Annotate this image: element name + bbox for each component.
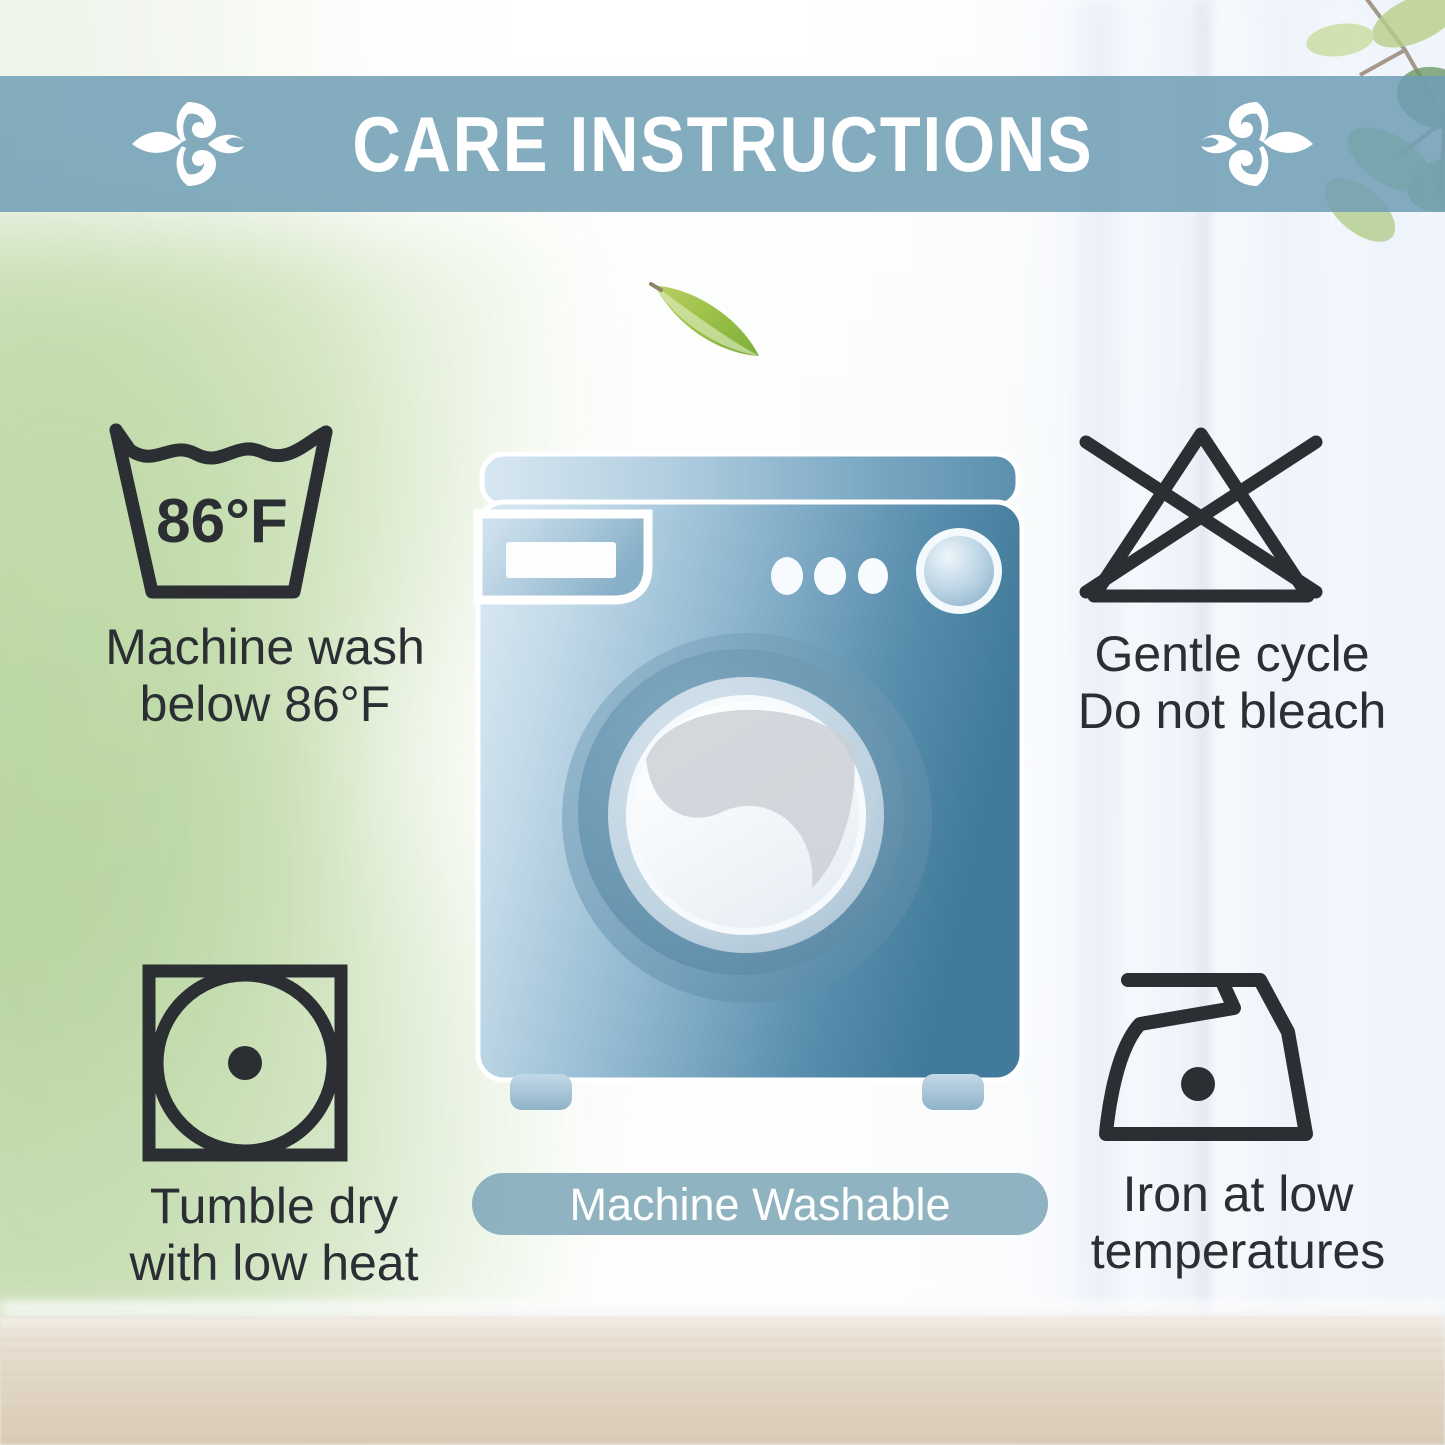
detergent-drawer[interactable] bbox=[478, 514, 648, 600]
caption-line-1: Tumble dry bbox=[48, 1178, 500, 1235]
do-not-bleach-triangle-icon bbox=[1072, 420, 1330, 610]
care-symbol-tumble-dry: Tumble dry with low heat bbox=[20, 962, 500, 1292]
indicator-light-2 bbox=[814, 557, 846, 595]
indicator-lights bbox=[771, 557, 888, 595]
indicator-light-3 bbox=[858, 558, 888, 594]
machine-door[interactable] bbox=[562, 633, 932, 1003]
machine-lid bbox=[482, 454, 1018, 506]
machine-foot-left bbox=[510, 1074, 572, 1110]
washing-machine-illustration bbox=[470, 440, 1030, 1130]
indicator-light-1 bbox=[771, 557, 803, 595]
fleur-de-lis-ornament-right bbox=[1199, 96, 1319, 192]
care-instructions-infographic: CARE INSTRUCTIONS 86°F bbox=[0, 0, 1445, 1445]
caption-line-2: Do not bleach bbox=[1024, 683, 1440, 740]
caption-line-2: temperatures bbox=[1036, 1223, 1440, 1280]
tumble-dry-low-icon bbox=[140, 962, 350, 1164]
care-symbol-tumble-dry-caption: Tumble dry with low heat bbox=[20, 1178, 500, 1292]
care-symbol-bleach-caption: Gentle cycle Do not bleach bbox=[1000, 626, 1440, 740]
caption-line-1: Gentle cycle bbox=[1024, 626, 1440, 683]
fleur-de-lis-ornament-left bbox=[126, 96, 246, 192]
header-banner: CARE INSTRUCTIONS bbox=[0, 76, 1445, 212]
caption-line-1: Iron at low bbox=[1036, 1166, 1440, 1223]
control-dial-knob[interactable] bbox=[916, 528, 1002, 614]
caption-line-1: Machine wash bbox=[30, 619, 500, 676]
machine-washable-label: Machine Washable bbox=[569, 1182, 950, 1227]
caption-line-2: below 86°F bbox=[30, 676, 500, 733]
care-symbol-wash-caption: Machine wash below 86°F bbox=[20, 619, 500, 733]
care-symbol-iron-caption: Iron at low temperatures bbox=[1000, 1166, 1440, 1280]
machine-foot-right bbox=[922, 1074, 984, 1110]
wash-tub-icon: 86°F bbox=[104, 420, 354, 605]
care-symbol-wash: 86°F Machine wash below 86°F bbox=[20, 420, 500, 733]
wooden-table-surface bbox=[0, 1317, 1445, 1445]
care-symbol-bleach: Gentle cycle Do not bleach bbox=[1000, 420, 1440, 740]
floating-leaf-icon bbox=[645, 272, 769, 364]
machine-washable-badge: Machine Washable bbox=[472, 1173, 1048, 1235]
iron-low-heat-icon bbox=[1092, 962, 1340, 1154]
page-title: CARE INSTRUCTIONS bbox=[352, 105, 1093, 183]
wash-temperature-label: 86°F bbox=[156, 487, 288, 556]
care-symbol-iron: Iron at low temperatures bbox=[1000, 962, 1440, 1280]
caption-line-2: with low heat bbox=[48, 1235, 500, 1292]
